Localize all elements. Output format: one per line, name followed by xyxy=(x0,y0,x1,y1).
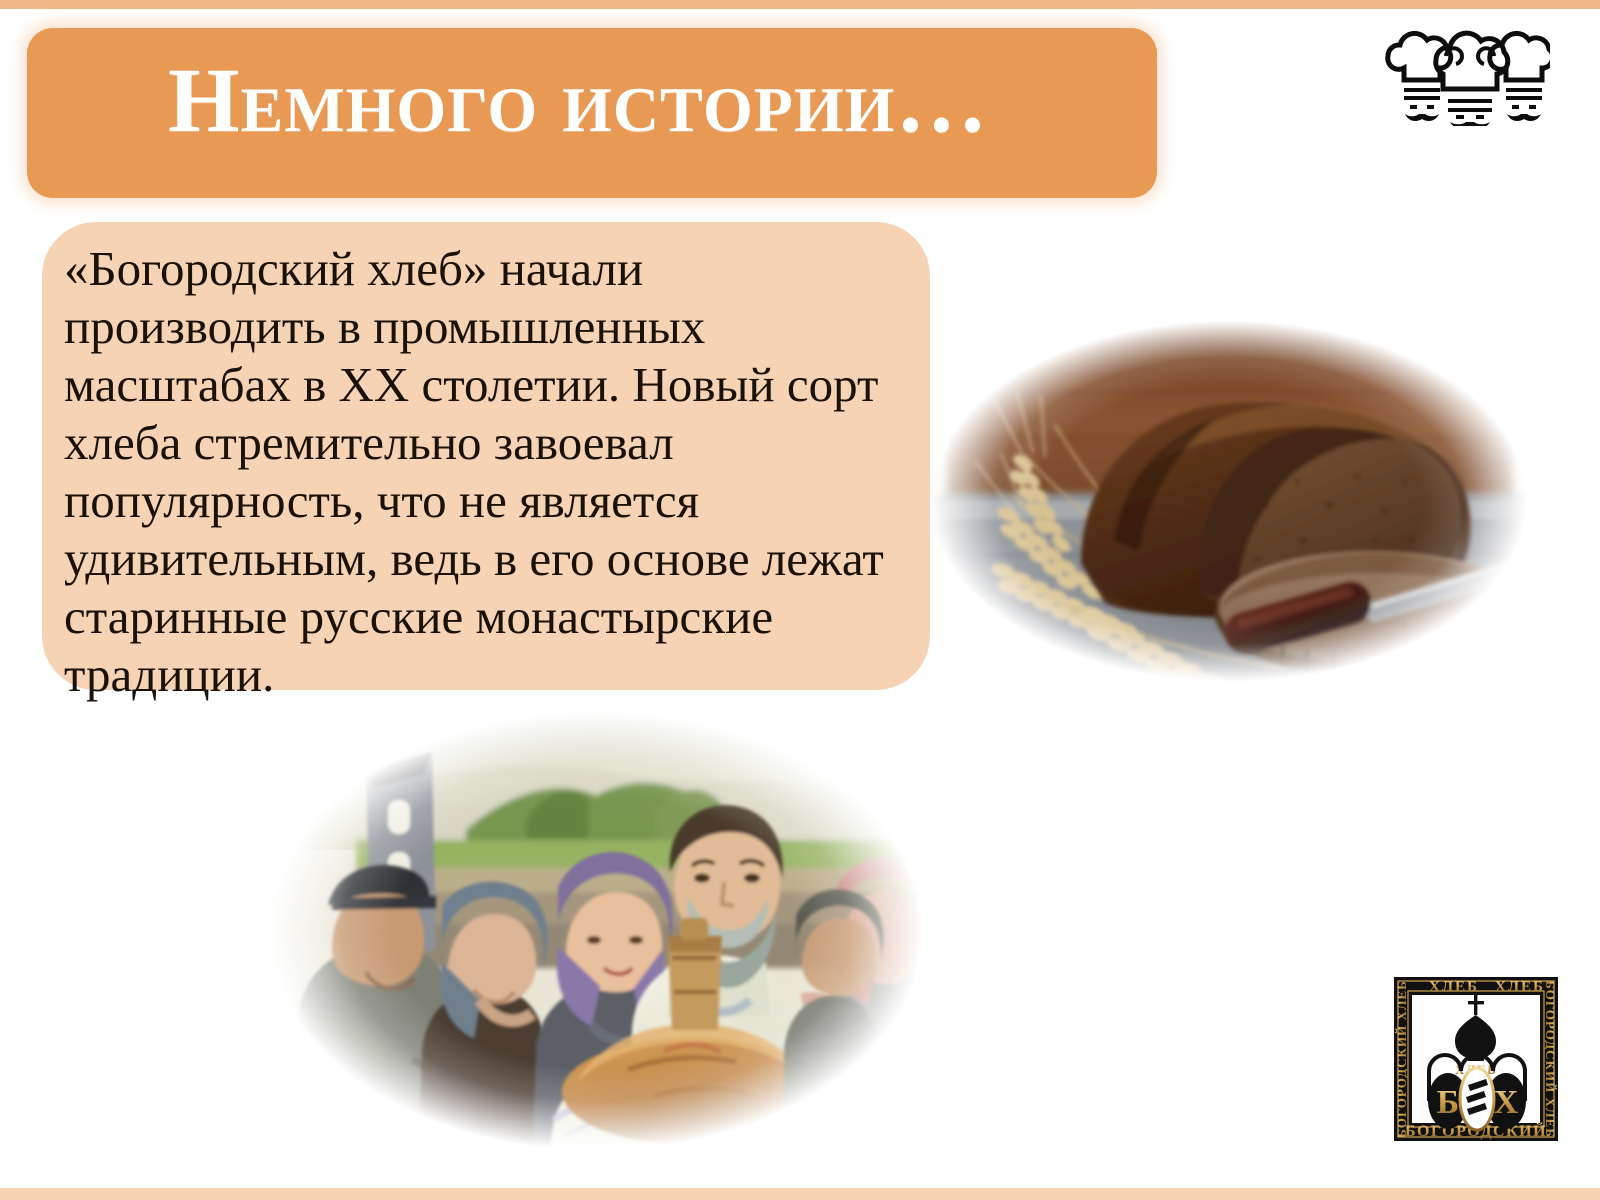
slide-root: Немного истории… xyxy=(0,0,1600,1200)
top-accent-strip xyxy=(0,0,1600,9)
logo-monogram-left: Б xyxy=(1437,1084,1459,1121)
logo-right-word: БОГОРОДСКИЙ ХЛЕБ xyxy=(1543,980,1558,1138)
bottom-accent-strip xyxy=(0,1188,1600,1200)
bread-photo xyxy=(905,305,1553,697)
painting-bread-and-salt xyxy=(236,700,956,1162)
bogorodsky-hleb-logo: ХЛЕБ ХЛЕБ БОГОРОДСКИЙ БОГОРОДСКИЙ ХЛЕБ Б… xyxy=(1372,955,1580,1163)
logo-top-left-word: ХЛЕБ xyxy=(1429,979,1479,995)
page-title: Немного истории… xyxy=(168,48,1118,152)
body-paragraph: «Богородский хлеб» начали производить в … xyxy=(64,240,914,704)
logo-monogram-right: Х xyxy=(1494,1084,1519,1121)
logo-left-word: БОГОРОДСКИЙ ХЛЕБ xyxy=(1394,980,1409,1138)
chef-hats-icon xyxy=(1374,22,1550,126)
logo-top-right-word: ХЛЕБ xyxy=(1495,979,1545,995)
